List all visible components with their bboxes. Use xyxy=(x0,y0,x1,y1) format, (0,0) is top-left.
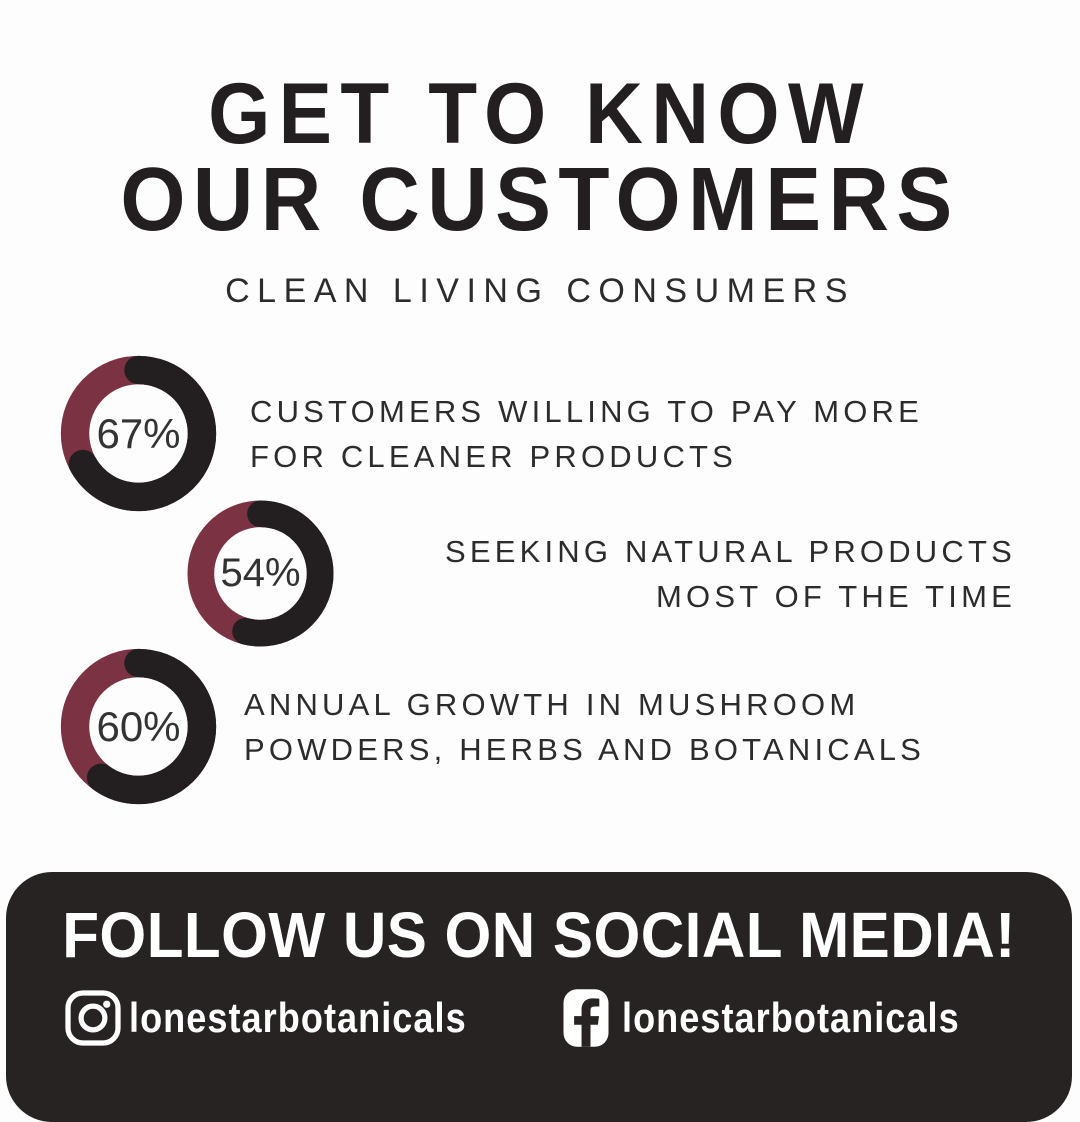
donut-value-label: 54% xyxy=(182,495,339,652)
instagram-handle: lonestarbotanicals xyxy=(129,994,467,1042)
page-title-line-2: OUR CUSTOMERS xyxy=(38,156,1042,242)
social-media-footer-bar: FOLLOW US ON SOCIAL MEDIA! lonestarbotan… xyxy=(6,872,1072,1122)
stat-description-line-2: FOR CLEANER PRODUCTS xyxy=(250,434,1020,479)
page-subtitle: CLEAN LIVING CONSUMERS xyxy=(0,242,1080,311)
donut-value-label: 60% xyxy=(55,643,222,810)
social-links: lonestarbotanicals lonestarbotanicals xyxy=(6,970,1072,1048)
header: GET TO KNOW OUR CUSTOMERS CLEAN LIVING C… xyxy=(0,0,1080,311)
facebook-icon xyxy=(556,988,616,1048)
social-link-instagram[interactable]: lonestarbotanicals xyxy=(63,988,522,1048)
stat-description-line-1: SEEKING NATURAL PRODUCTS xyxy=(445,534,1016,569)
stat-row: 54% SEEKING NATURAL PRODUCTS MOST OF THE… xyxy=(182,495,1020,652)
page-title-line-1: GET TO KNOW xyxy=(38,0,1042,156)
stat-description-line-1: ANNUAL GROWTH IN MUSHROOM xyxy=(244,687,859,722)
stat-description-line-2: POWDERS, HERBS AND BOTANICALS xyxy=(244,727,1020,772)
stat-description: ANNUAL GROWTH IN MUSHROOM POWDERS, HERBS… xyxy=(222,682,1020,772)
donut-chart-60: 60% xyxy=(55,643,222,810)
social-link-facebook[interactable]: lonestarbotanicals xyxy=(556,988,1015,1048)
footer-headline: FOLLOW US ON SOCIAL MEDIA! xyxy=(38,872,1040,970)
stat-description-line-2: MOST OF THE TIME xyxy=(361,574,1016,619)
donut-chart-67: 67% xyxy=(55,350,222,517)
donut-chart-54: 54% xyxy=(182,495,339,652)
stats-list: 67% CUSTOMERS WILLING TO PAY MORE FOR CL… xyxy=(0,345,1080,835)
stat-description: CUSTOMERS WILLING TO PAY MORE FOR CLEANE… xyxy=(222,389,1020,479)
donut-value-label: 67% xyxy=(55,350,222,517)
stat-row: 60% ANNUAL GROWTH IN MUSHROOM POWDERS, H… xyxy=(55,643,1020,810)
facebook-handle: lonestarbotanicals xyxy=(622,994,960,1042)
instagram-icon xyxy=(63,988,123,1048)
stat-row: 67% CUSTOMERS WILLING TO PAY MORE FOR CL… xyxy=(55,350,1020,517)
stat-description-line-1: CUSTOMERS WILLING TO PAY MORE xyxy=(250,394,923,429)
stat-description: SEEKING NATURAL PRODUCTS MOST OF THE TIM… xyxy=(339,529,1020,619)
